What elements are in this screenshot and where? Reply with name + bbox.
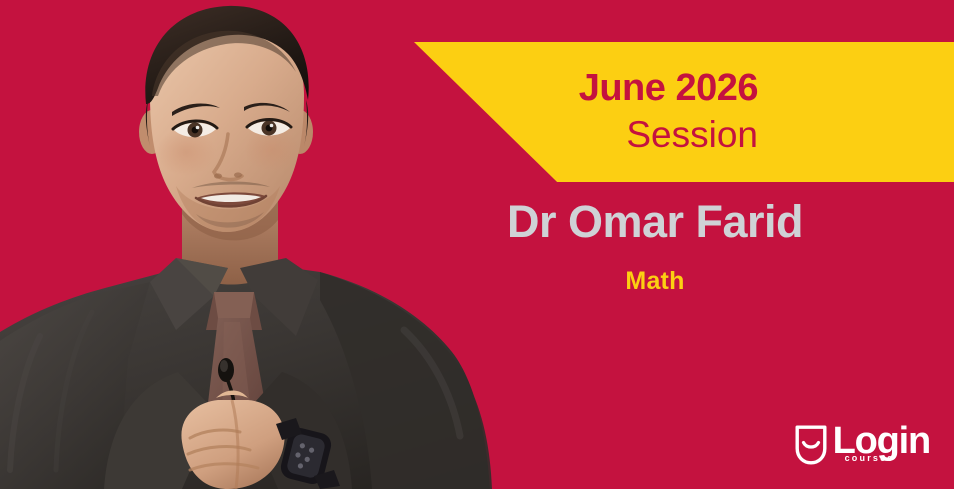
session-label: Session	[626, 113, 758, 157]
session-ribbon-text: June 2026 Session	[414, 42, 954, 182]
brand-logo[interactable]: Login courses	[794, 423, 930, 471]
session-month-year: June 2026	[579, 67, 758, 111]
brand-tagline: courses	[845, 453, 895, 463]
brand-wordmark: Login courses	[833, 423, 930, 460]
instructor-info: Dr Omar Farid Math	[440, 196, 870, 296]
shield-check-icon	[794, 424, 828, 466]
course-session-banner: June 2026 Session Dr Omar Farid Math Log…	[0, 0, 954, 489]
instructor-subject: Math	[440, 266, 870, 296]
instructor-name: Dr Omar Farid	[440, 196, 870, 248]
